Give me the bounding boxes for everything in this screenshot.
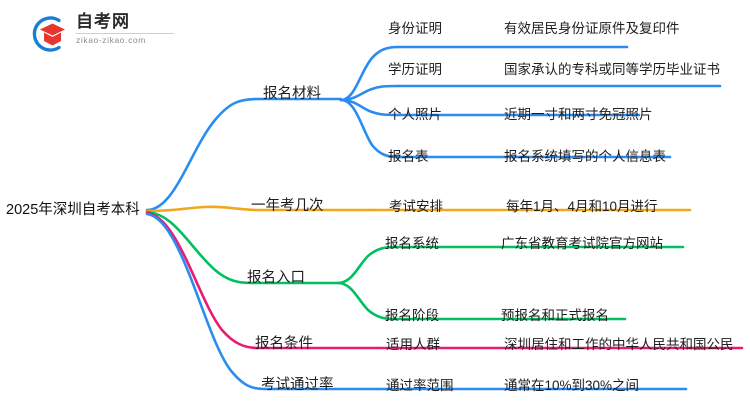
child-node-xuelizhengming[interactable]: 学历证明: [388, 58, 442, 78]
logo-divider: [76, 33, 174, 34]
wire-branch-3-child-1: [338, 247, 394, 283]
detail-node-baomingbiao[interactable]: 报名系统填写的个人信息表: [504, 145, 666, 165]
logo-name: 自考网: [76, 12, 176, 32]
child-node-shiyongrenqun[interactable]: 适用人群: [386, 333, 440, 353]
detail-node-kaoshianpai[interactable]: 每年1月、4月和10月进行: [506, 195, 658, 215]
detail-node-baomingjieduan[interactable]: 预报名和正式报名: [501, 304, 609, 324]
detail-node-tongguolvfanwei[interactable]: 通常在10%到30%之间: [504, 374, 639, 394]
detail-node-shiyongrenqun[interactable]: 深圳居住和工作的中华人民共和国公民: [504, 333, 734, 353]
detail-node-baomingxitong[interactable]: 广东省教育考试院官方网站: [501, 232, 663, 252]
detail-node-gerenzhaopian[interactable]: 近期一寸和两寸免冠照片: [504, 103, 653, 123]
wire-root-to-branch-4: [147, 213, 258, 348]
branch-node-baomingrukou[interactable]: 报名入口: [247, 266, 305, 287]
child-node-gerenzhaopian[interactable]: 个人照片: [388, 103, 442, 123]
logo-url: zikao-zikao.com: [76, 35, 176, 46]
logo-mark-icon: [28, 14, 70, 54]
child-node-baomingjieduan[interactable]: 报名阶段: [385, 304, 439, 324]
child-node-kaoshianpai[interactable]: 考试安排: [389, 195, 443, 215]
child-node-shenfenzhengming[interactable]: 身份证明: [388, 17, 442, 37]
wire-root-to-branch-1: [147, 99, 258, 210]
branch-node-baomingtiaojian[interactable]: 报名条件: [255, 332, 313, 353]
child-node-tongguolvfanwei[interactable]: 通过率范围: [386, 374, 454, 394]
wire-root-to-branch-3: [147, 212, 252, 283]
child-node-baomingbiao[interactable]: 报名表: [388, 145, 429, 165]
mindmap-canvas: 自考网 zikao-zikao.com: [0, 0, 750, 410]
wire-branch-1-child-2: [341, 86, 398, 100]
branch-node-kaoshitongguolv[interactable]: 考试通过率: [261, 373, 334, 394]
detail-node-shenfenzhengming[interactable]: 有效居民身份证原件及复印件: [504, 17, 680, 37]
site-logo: 自考网 zikao-zikao.com: [28, 12, 178, 56]
branch-node-baomingcailiao[interactable]: 报名材料: [263, 82, 321, 103]
branch-node-yiniankaojici[interactable]: 一年考几次: [251, 194, 324, 215]
child-node-baomingxitong[interactable]: 报名系统: [385, 232, 439, 252]
detail-node-xuelizhengming[interactable]: 国家承认的专科或同等学历毕业证书: [504, 58, 720, 78]
mindmap-root-node[interactable]: 2025年深圳自考本科: [6, 198, 140, 219]
logo-wordmark: 自考网 zikao-zikao.com: [76, 12, 176, 46]
wire-root-to-branch-2: [147, 207, 255, 211]
wire-root-to-branch-5: [147, 214, 265, 389]
